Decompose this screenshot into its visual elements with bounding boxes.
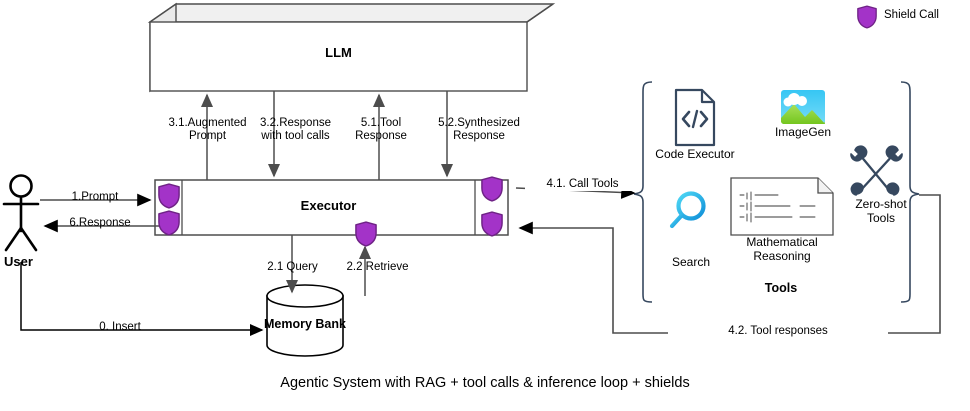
edge-label-retrieve: 2.2 Retrieve	[330, 261, 425, 274]
shield-icon-input[interactable]	[159, 184, 179, 208]
diagram-canvas: LLM Executor Memory Bank User 1.Prompt 6…	[0, 0, 970, 411]
formula-document-icon[interactable]	[731, 178, 833, 235]
edge-label-synthesized-response: 5.2.Synthesized Response	[415, 117, 543, 143]
edge-label-response: 6.Response	[55, 217, 145, 230]
edge-label-call-tools: 4.1. Call Tools	[525, 178, 640, 191]
diagram-vector-layer	[0, 0, 970, 411]
edge-label-prompt: 1.Prompt	[55, 191, 135, 204]
shield-icon-memory[interactable]	[356, 222, 376, 246]
tool-label-code-executor: Code Executor	[645, 148, 745, 162]
edge-insert	[21, 262, 262, 330]
user-label: User	[4, 255, 33, 270]
edge-label-query: 2.1 Query	[250, 261, 335, 274]
tool-label-mathematical-reasoning: Mathematical Reasoning	[722, 236, 842, 264]
tools-bracket-right	[901, 82, 919, 302]
edge-label-insert: 0. Insert	[75, 321, 165, 334]
memory-bank-label: Memory Bank	[255, 317, 355, 331]
shield-icon-output[interactable]	[159, 211, 179, 235]
image-picture-icon[interactable]	[781, 90, 825, 124]
legend-shield-label: Shield Call	[884, 9, 939, 22]
tools-panel-title: Tools	[726, 281, 836, 295]
crossed-wrenches-icon[interactable]	[851, 146, 902, 195]
user-actor[interactable]	[4, 176, 38, 251]
shield-icon-legend	[858, 6, 876, 28]
tool-label-imagegen: ImageGen	[763, 126, 843, 140]
shield-icon-tool-out[interactable]	[482, 177, 502, 201]
tool-label-zero-shot-tools: Zero-shot Tools	[838, 198, 924, 226]
code-document-icon[interactable]	[676, 90, 714, 145]
diagram-caption: Agentic System with RAG + tool calls & i…	[135, 375, 835, 392]
executor-label: Executor	[182, 199, 475, 214]
tool-label-search: Search	[655, 256, 727, 270]
shield-icon-tool-in[interactable]	[482, 212, 502, 236]
magnifier-icon[interactable]	[672, 194, 704, 227]
llm-label: LLM	[150, 46, 527, 61]
edge-label-tool-responses: 4.2. Tool responses	[668, 325, 888, 338]
tools-bracket-left	[634, 82, 652, 302]
